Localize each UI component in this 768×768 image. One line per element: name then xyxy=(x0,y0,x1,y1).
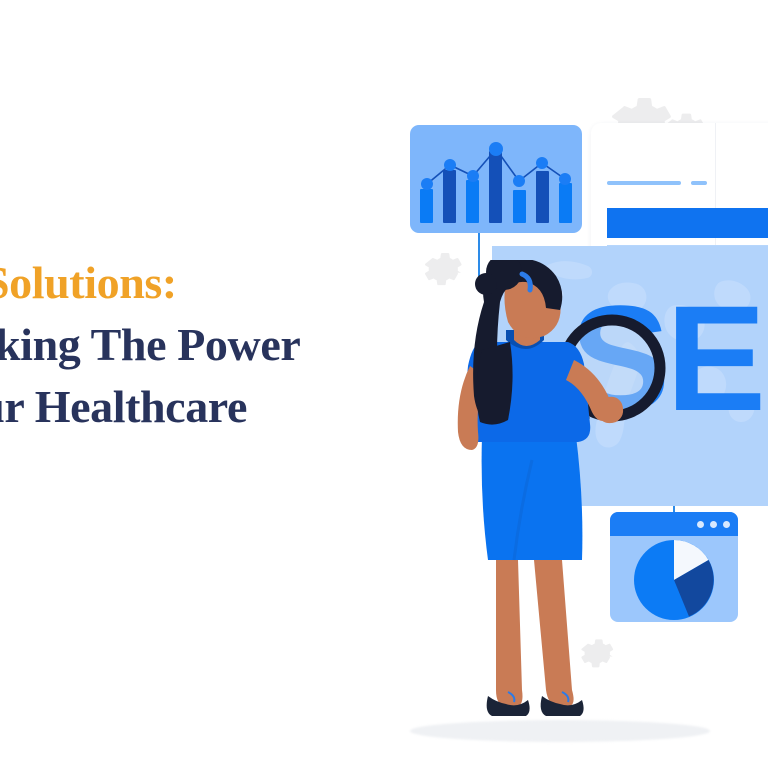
headline-line-1: SEO Solutions: xyxy=(0,252,382,314)
banner-canvas: SEO Solutions: Unlocking The Power of Yo… xyxy=(0,0,768,768)
headline-line-2: Unlocking The Power xyxy=(0,314,382,376)
window-dot-3 xyxy=(723,521,730,528)
seo-illustration: SEO xyxy=(392,60,768,768)
page-title: SEO Solutions: Unlocking The Power of Yo… xyxy=(0,252,382,438)
placeholder-line-2 xyxy=(691,181,707,185)
trend-line-series xyxy=(420,137,572,223)
search-result-highlight xyxy=(607,208,768,238)
person-illustration xyxy=(422,260,648,750)
window-dot-1 xyxy=(697,521,704,528)
window-dot-2 xyxy=(710,521,717,528)
headline-line-3: of Your Healthcare xyxy=(0,376,382,438)
chart-plot-area xyxy=(420,137,572,223)
analytics-chart-card[interactable] xyxy=(410,125,582,233)
placeholder-line-1 xyxy=(607,181,681,185)
